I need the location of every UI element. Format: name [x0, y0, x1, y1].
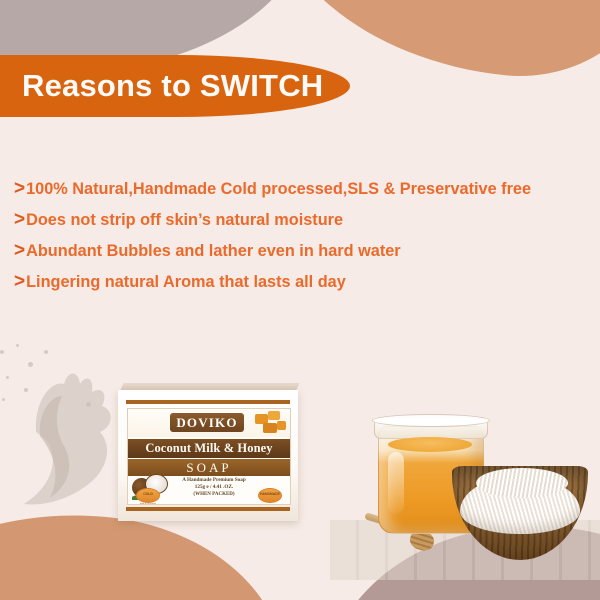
chevron-right-icon: > [14, 178, 25, 200]
honeycomb-chunks-icon [253, 411, 287, 436]
chevron-right-icon: > [14, 209, 25, 231]
list-item: > 100% Natural,Handmade Cold processed,S… [14, 178, 594, 200]
jar-rim [372, 414, 490, 427]
coconut-shell-with-shredded-coconut [452, 448, 588, 566]
chevron-right-icon: > [14, 271, 25, 293]
list-item: > Lingering natural Aroma that lasts all… [14, 271, 594, 293]
product-label: DOVIKO Coconut Milk & Honey SOAP [127, 408, 291, 505]
label-fineprint: A Handmade Premium Soap 125g e / 4.41 .O… [168, 477, 260, 498]
product-weight: 125g e / 4.41 .OZ. [168, 484, 260, 491]
page-title: Reasons to SWITCH [22, 64, 323, 108]
brand-logo: DOVIKO [170, 413, 244, 432]
benefits-list: > 100% Natural,Handmade Cold processed,S… [14, 178, 594, 302]
carton-bottom-rule [126, 507, 290, 511]
coconut-shell [452, 466, 588, 560]
carton-front-face: DOVIKO Coconut Milk & Honey SOAP [118, 390, 298, 521]
list-item: > Abundant Bubbles and lather even in ha… [14, 240, 594, 262]
list-item-label: 100% Natural,Handmade Cold processed,SLS… [26, 178, 531, 200]
brand-band: DOVIKO [128, 409, 290, 437]
jar-highlight [388, 452, 404, 514]
badge-left-label: COLD PROCESS [137, 489, 159, 505]
soap-product-carton: DOVIKO Coconut Milk & Honey SOAP [118, 383, 298, 521]
product-name-band: Coconut Milk & Honey [128, 439, 290, 458]
product-tagline: A Handmade Premium Soap [168, 477, 260, 484]
poster-canvas: Reasons to SWITCH > 100% Natural,Handmad… [0, 0, 600, 600]
list-item-label: Lingering natural Aroma that lasts all d… [26, 271, 346, 293]
status-badge-handmade: HANDMADE [258, 488, 282, 503]
chevron-right-icon: > [14, 240, 25, 262]
shredded-coconut-top [476, 468, 568, 498]
product-weight-note: (WHEN PACKED) [168, 491, 260, 498]
list-item-label: Does not strip off skin’s natural moistu… [26, 209, 343, 231]
status-badge-cold-process: COLD PROCESS [136, 488, 160, 503]
list-item-label: Abundant Bubbles and lather even in hard… [26, 240, 401, 262]
list-item: > Does not strip off skin’s natural mois… [14, 209, 594, 231]
product-name: Coconut Milk & Honey [128, 439, 290, 458]
carton-top-rule [126, 400, 290, 404]
badge-right-label: HANDMADE [259, 489, 281, 500]
